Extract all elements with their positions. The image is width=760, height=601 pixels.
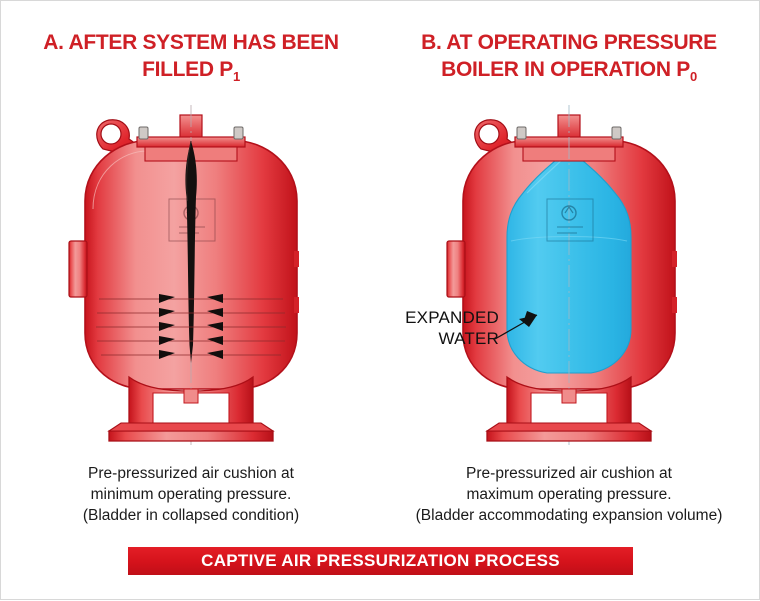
expanded-water-callout: EXPANDED WATER <box>389 307 499 349</box>
callout-line1: EXPANDED <box>389 307 499 328</box>
panel-a-caption: Pre-pressurized air cushion at minimum o… <box>7 463 375 526</box>
panel-a-title-line1: A. AFTER SYSTEM HAS BEEN <box>43 31 338 54</box>
tank-a-stage <box>1 101 381 451</box>
bottom-nozzle <box>562 389 576 403</box>
panel-a: A. AFTER SYSTEM HAS BEEN FILLED P1 <box>1 1 381 601</box>
figure-root: A. AFTER SYSTEM HAS BEEN FILLED P1 <box>0 0 760 600</box>
tank-b-drawing <box>419 101 719 451</box>
panel-a-caption-line2: minimum operating pressure. <box>7 484 375 505</box>
panel-b-caption-line2: maximum operating pressure. <box>385 484 753 505</box>
callout-line2: WATER <box>389 328 499 349</box>
panel-a-title-line2: FILLED P1 <box>142 58 240 81</box>
panel-b-caption-line3: (Bladder accommodating expansion volume) <box>385 505 753 526</box>
flange-bolt-left <box>517 127 526 139</box>
panel-a-title-subscript: 1 <box>233 69 240 84</box>
side-nozzle <box>447 241 465 297</box>
panel-b-caption: Pre-pressurized air cushion at maximum o… <box>385 463 753 526</box>
panel-a-title: A. AFTER SYSTEM HAS BEEN FILLED P1 <box>11 29 371 83</box>
panel-b-title: B. AT OPERATING PRESSURE BOILER IN OPERA… <box>389 29 749 83</box>
side-nozzle <box>69 241 87 297</box>
side-stub-right <box>294 251 299 267</box>
panel-a-caption-line1: Pre-pressurized air cushion at <box>7 463 375 484</box>
side-stub-right <box>672 251 677 267</box>
panel-b-caption-line1: Pre-pressurized air cushion at <box>385 463 753 484</box>
base-ring <box>487 423 651 441</box>
flange-bolt-right <box>234 127 243 139</box>
tank-b-stage <box>379 101 759 451</box>
panel-b-title-line1: B. AT OPERATING PRESSURE <box>421 31 717 54</box>
side-stub-right-2 <box>672 297 677 313</box>
panel-a-caption-line3: (Bladder in collapsed condition) <box>7 505 375 526</box>
tank-a-drawing <box>41 101 341 451</box>
process-banner: CAPTIVE AIR PRESSURIZATION PROCESS <box>128 547 633 575</box>
bottom-nozzle <box>184 389 198 403</box>
side-stub-right-2 <box>294 297 299 313</box>
base-ring <box>109 423 273 441</box>
panel-b-title-subscript: 0 <box>690 69 697 84</box>
callout-arrow-icon <box>493 297 573 347</box>
flange-bolt-right <box>612 127 621 139</box>
panel-b-title-line2: BOILER IN OPERATION P0 <box>441 58 697 81</box>
flange-bolt-left <box>139 127 148 139</box>
